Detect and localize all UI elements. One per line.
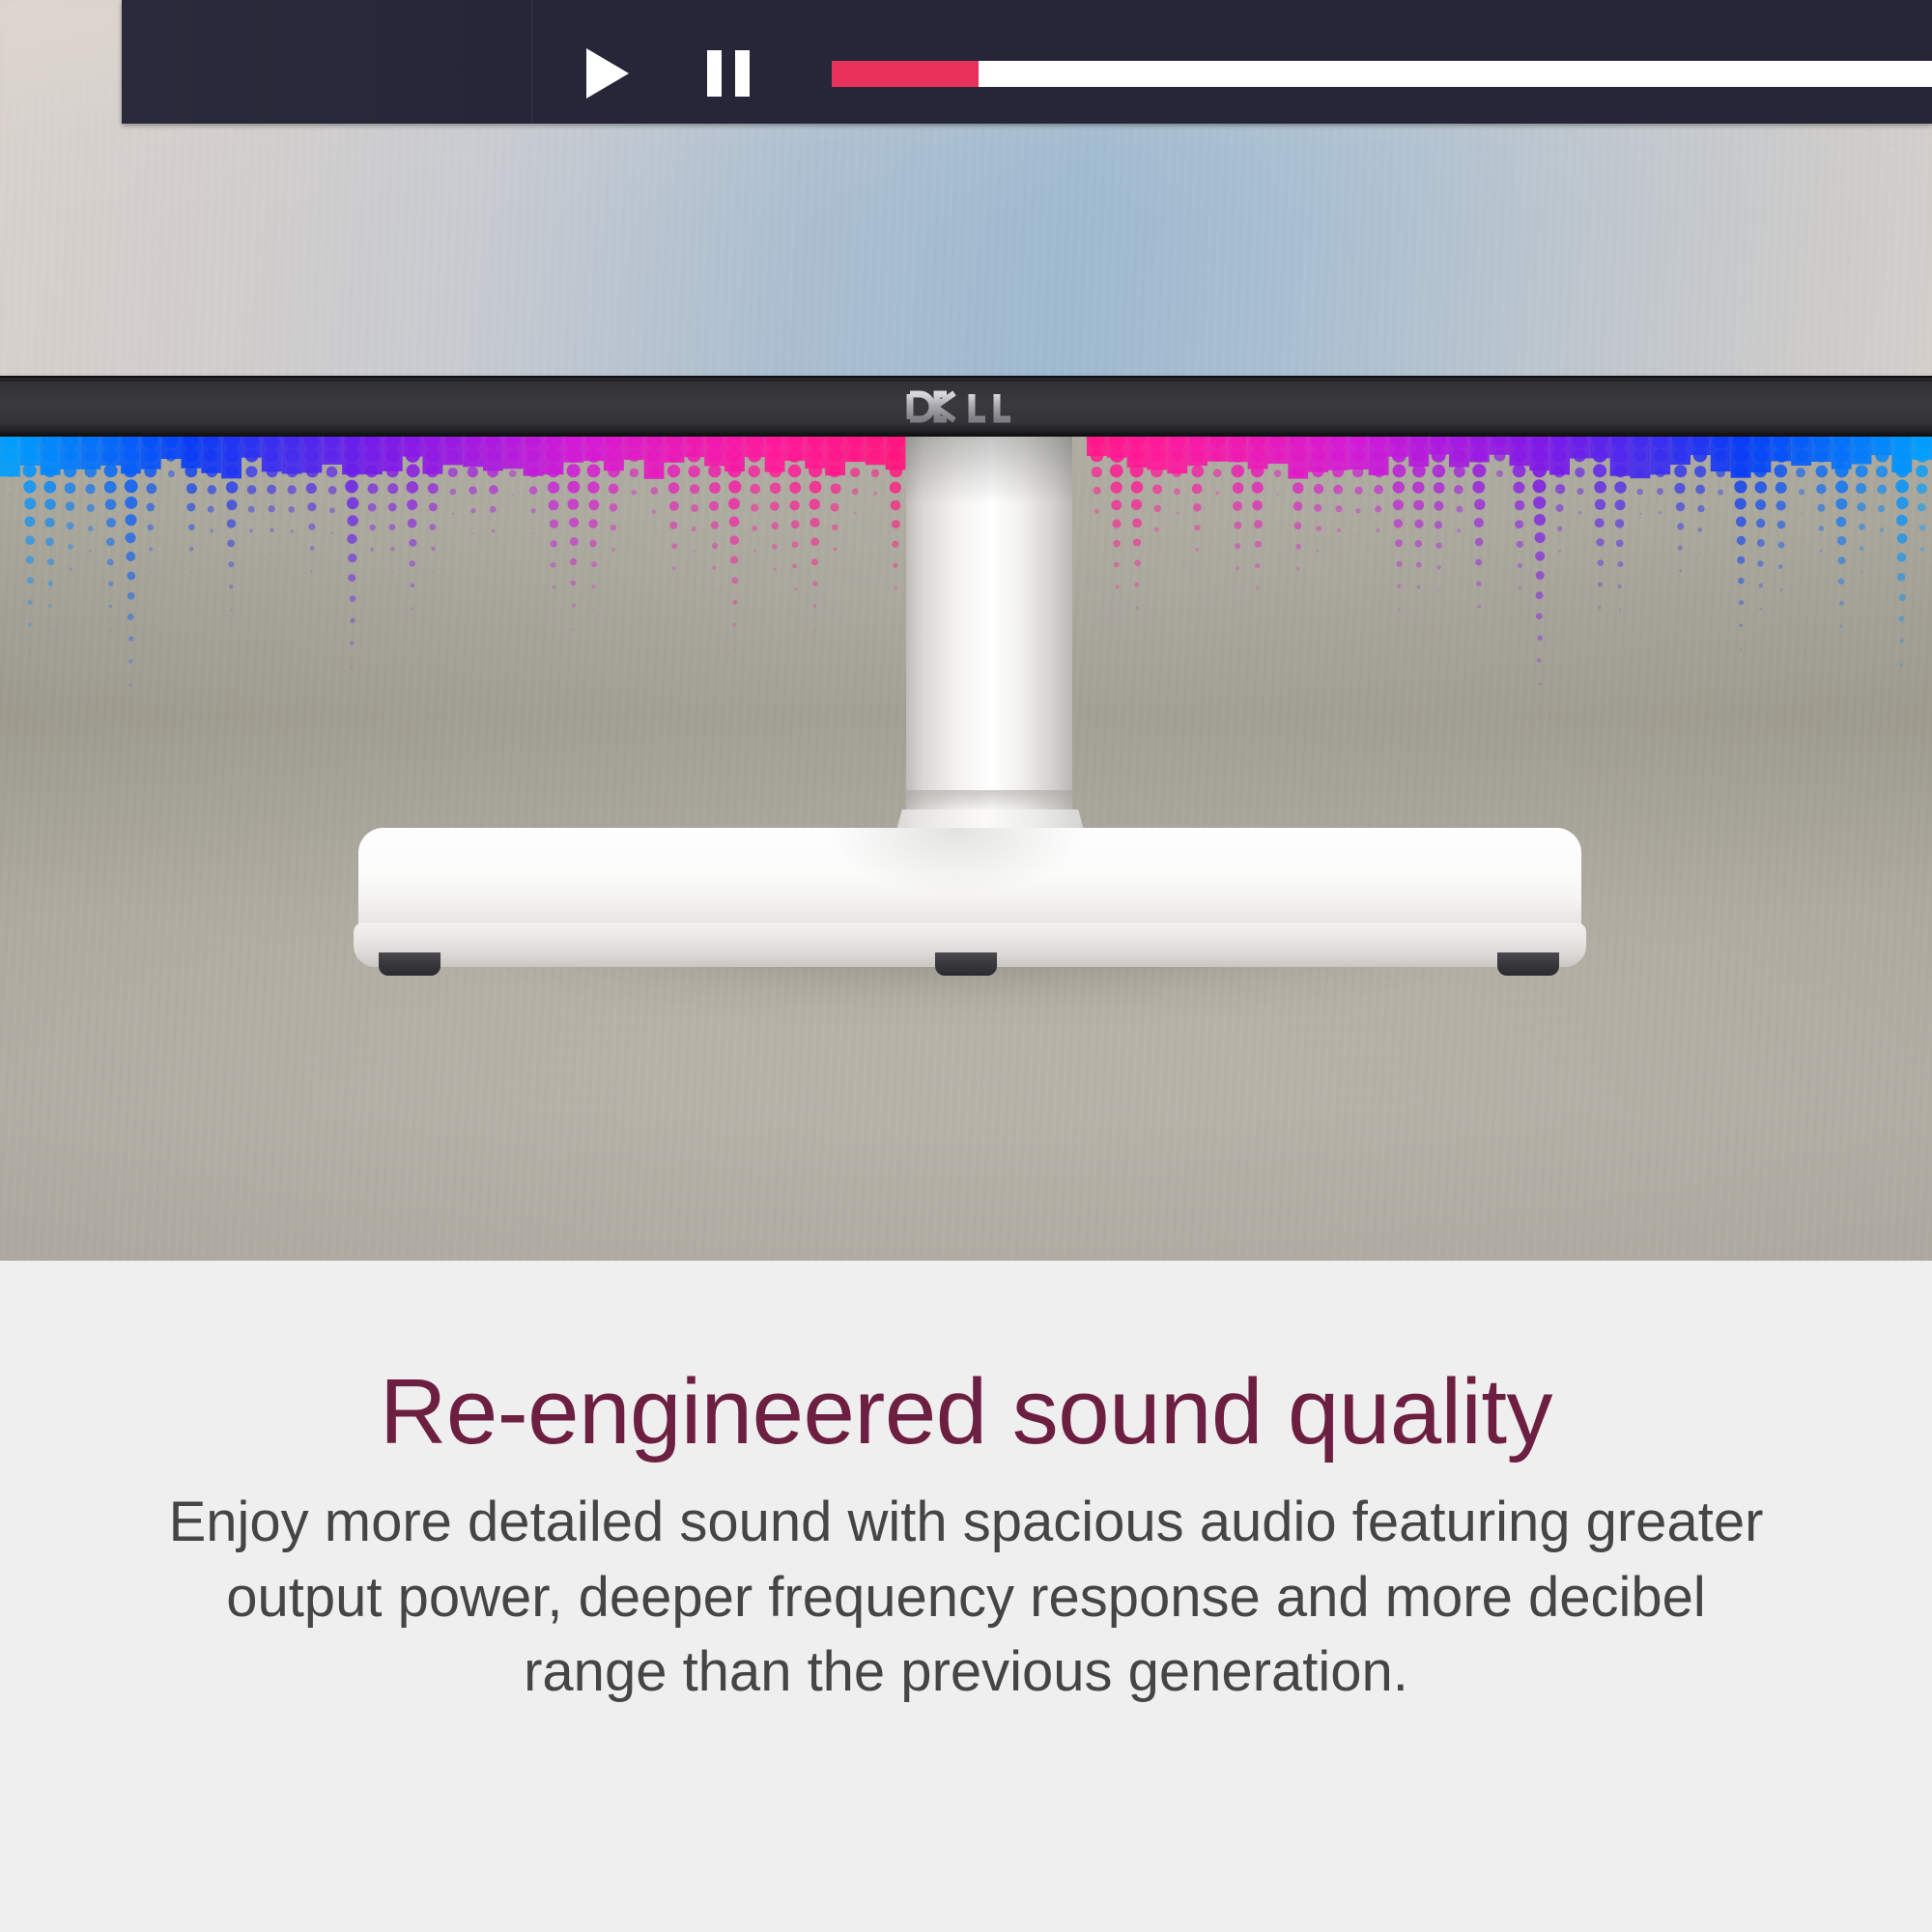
page-title: Re-engineered sound quality (0, 1261, 1932, 1460)
pause-bar-right (735, 50, 750, 97)
player-panel-divider (531, 0, 533, 124)
pause-bar-left (707, 50, 722, 97)
stand-column-shadow (906, 437, 1072, 504)
monitor-stand-column (906, 437, 1072, 823)
stand-foot-right (1497, 952, 1559, 976)
caption-body-text: Enjoy more detailed sound with spacious … (155, 1485, 1777, 1710)
play-triangle (586, 48, 629, 99)
product-feature-card: Re-engineered sound quality Enjoy more d… (0, 0, 1932, 1932)
stand-base-center-shading (753, 828, 1159, 934)
playback-progress-fill (832, 61, 979, 87)
stand-foot-center (935, 952, 997, 976)
product-photo (0, 0, 1932, 1261)
dell-logo (0, 376, 1932, 437)
monitor-bottom-bezel (0, 376, 1932, 437)
pause-icon[interactable] (707, 50, 750, 97)
stand-foot-left (379, 952, 440, 976)
media-player-bar[interactable] (122, 0, 1932, 124)
playback-progress-track[interactable] (832, 61, 1932, 87)
caption-block: Re-engineered sound quality Enjoy more d… (0, 1261, 1932, 1932)
play-icon[interactable] (586, 48, 631, 99)
